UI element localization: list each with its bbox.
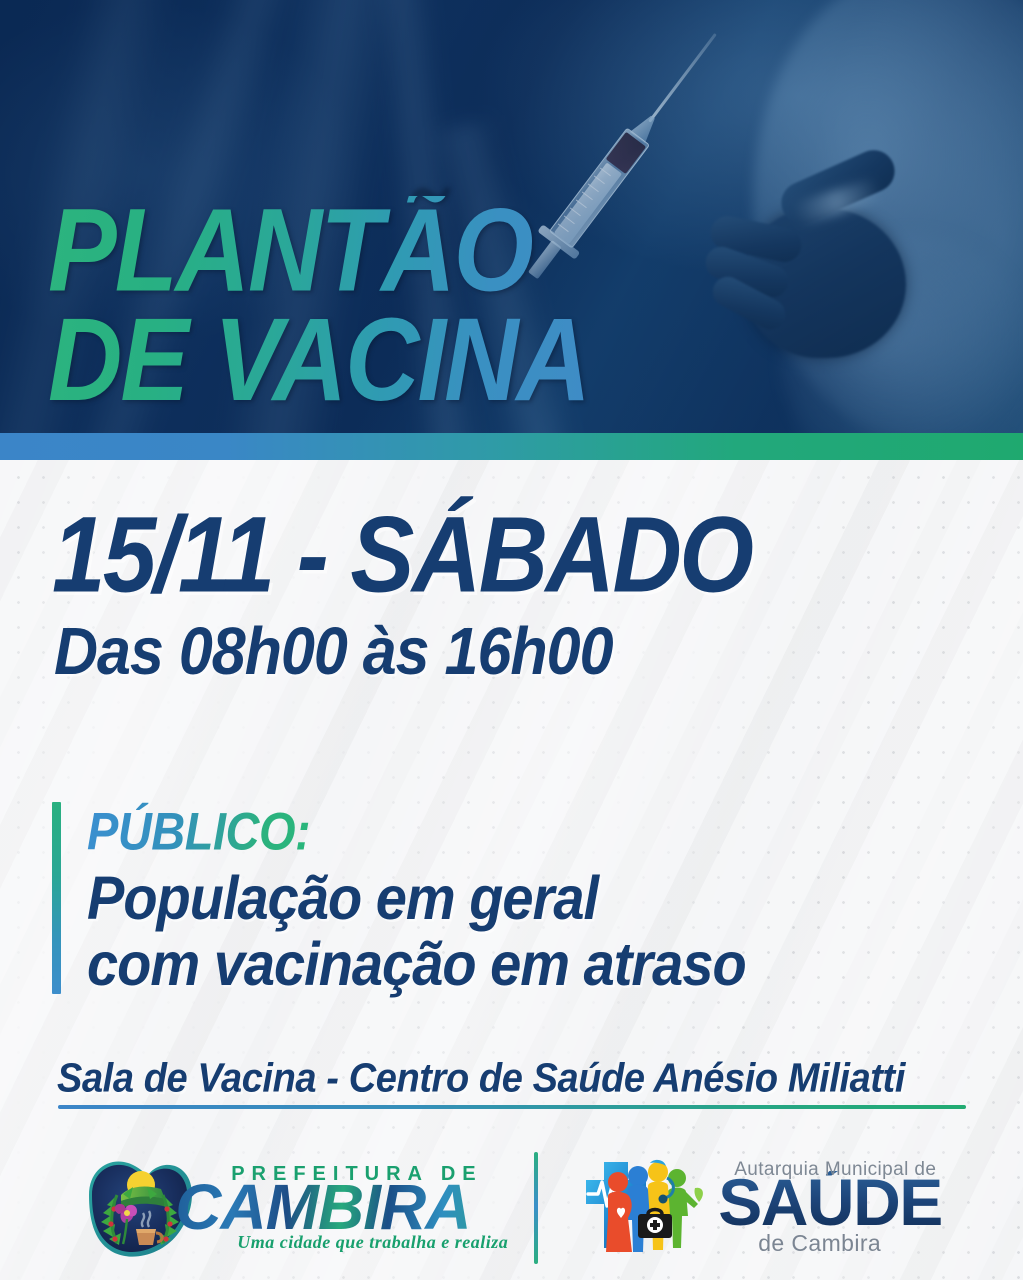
saude-wordmark: Autarquia Municipal de SAÚDE de Cambira — [718, 1159, 942, 1257]
prefeitura-logo: PREFEITURA DE CAMBIRA Uma cidade que tra… — [81, 1151, 508, 1265]
prefeitura-tagline: Uma cidade que trabalha e realiza — [237, 1232, 508, 1253]
audience-label: PÚBLICO: — [87, 800, 310, 862]
event-location: Sala de Vacina - Centro de Saúde Anésio … — [57, 1056, 905, 1102]
audience-line-1: População em geral — [87, 862, 598, 934]
section-divider-bar — [0, 433, 1023, 460]
logo-divider — [534, 1152, 538, 1264]
poster-title: PLANTÃO DE VACINA — [48, 196, 589, 414]
health-cross-people-icon — [564, 1152, 712, 1264]
logo-row: PREFEITURA DE CAMBIRA Uma cidade que tra… — [0, 1136, 1023, 1280]
prefeitura-name: CAMBIRA — [175, 1178, 508, 1237]
location-underline — [58, 1105, 966, 1109]
saude-name: SAÚDE — [718, 1171, 942, 1234]
event-date: 15/11 - SÁBADO — [52, 502, 751, 610]
audience-accent-bar — [52, 802, 61, 994]
audience-line-2: com vacinação em atraso — [87, 928, 746, 1000]
vaccination-campaign-poster: PLANTÃO DE VACINA PLANTÃO DE VACINA 15/1… — [0, 0, 1023, 1280]
prefeitura-wordmark: PREFEITURA DE CAMBIRA Uma cidade que tra… — [175, 1163, 508, 1254]
event-hours: Das 08h00 às 16h00 — [54, 618, 613, 685]
saude-logo: Autarquia Municipal de SAÚDE de Cambira — [564, 1152, 942, 1264]
